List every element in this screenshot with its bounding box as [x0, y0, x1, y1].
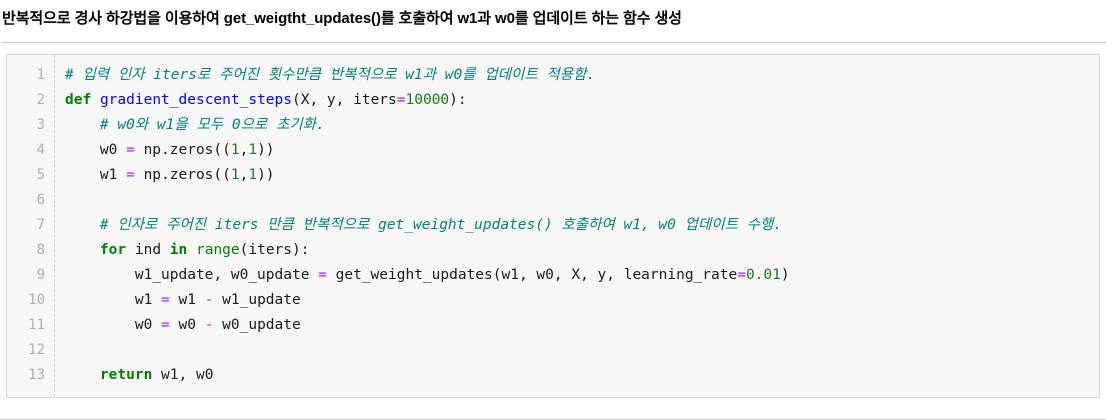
- code-token: [187, 242, 196, 258]
- line-number: 6: [7, 188, 54, 213]
- line-number-gutter: 12345678910111213: [7, 55, 55, 397]
- code-token: =: [126, 167, 135, 183]
- line-number: 9: [7, 263, 54, 288]
- code-token: (X, y, iters: [292, 92, 397, 108]
- code-token: ): [781, 267, 790, 283]
- code-token: 10000: [406, 92, 450, 108]
- code-token: 1: [231, 142, 240, 158]
- code-token: ):: [449, 92, 466, 108]
- code-token: [65, 117, 100, 133]
- code-token: 0.01: [746, 267, 781, 283]
- code-token: range: [196, 242, 240, 258]
- code-token: )): [257, 142, 274, 158]
- code-token: in: [170, 242, 187, 258]
- code-token: =: [126, 142, 135, 158]
- code-token: # 인자로 주어진 iters 만큼 반복적으로 get_weight_upda…: [100, 217, 782, 233]
- code-token: (iters):: [240, 242, 310, 258]
- code-token: )): [257, 167, 274, 183]
- code-token: [65, 217, 100, 233]
- code-token: 1: [248, 142, 257, 158]
- code-line: for ind in range(iters):: [65, 238, 1099, 263]
- code-line: w1_update, w0_update = get_weight_update…: [65, 263, 1099, 288]
- code-token: [65, 242, 100, 258]
- code-line: w1 = w1 - w1_update: [65, 288, 1099, 313]
- line-number: 3: [7, 113, 54, 138]
- code-token: # w0와 w1을 모두 0으로 초기화.: [100, 117, 325, 133]
- line-number: 13: [7, 363, 54, 388]
- code-token: def: [65, 92, 91, 108]
- line-number: 8: [7, 238, 54, 263]
- code-cell[interactable]: 12345678910111213 # 입력 인자 iters로 주어진 횟수만…: [6, 54, 1100, 398]
- heading-divider: [2, 42, 1106, 43]
- line-number: 11: [7, 313, 54, 338]
- code-token: ind: [126, 242, 170, 258]
- code-token: =: [397, 92, 406, 108]
- line-number: 5: [7, 163, 54, 188]
- code-token: =: [737, 267, 746, 283]
- code-token: =: [161, 292, 170, 308]
- code-line-empty: [65, 188, 1099, 213]
- code-line: def gradient_descent_steps(X, y, iters=1…: [65, 88, 1099, 113]
- code-line: return w1, w0: [65, 363, 1099, 388]
- code-token: w1: [65, 167, 126, 183]
- code-line: w1 = np.zeros((1,1)): [65, 163, 1099, 188]
- code-token: np.zeros((: [135, 167, 231, 183]
- code-token: w1_update: [213, 292, 300, 308]
- code-token: w0: [170, 317, 205, 333]
- line-number: 10: [7, 288, 54, 313]
- code-token: w1_update, w0_update: [65, 267, 318, 283]
- code-token: gradient_descent_steps: [100, 92, 292, 108]
- code-line: w0 = w0 - w0_update: [65, 313, 1099, 338]
- code-line: # w0와 w1을 모두 0으로 초기화.: [65, 113, 1099, 138]
- code-token: [91, 92, 100, 108]
- code-token: =: [161, 317, 170, 333]
- line-number: 1: [7, 63, 54, 88]
- code-token: =: [318, 267, 327, 283]
- code-token: # 입력 인자 iters로 주어진 횟수만큼 반복적으로 w1과 w0를 업데…: [65, 67, 595, 83]
- code-line: w0 = np.zeros((1,1)): [65, 138, 1099, 163]
- code-token: np.zeros((: [135, 142, 231, 158]
- line-number: 4: [7, 138, 54, 163]
- code-line: # 인자로 주어진 iters 만큼 반복적으로 get_weight_upda…: [65, 213, 1099, 238]
- code-token: w1: [65, 292, 161, 308]
- code-line-empty: [65, 338, 1099, 363]
- heading-section: 반복적으로 경사 하강법을 이용하여 get_weigtht_updates()…: [0, 0, 1106, 43]
- code-source-area[interactable]: # 입력 인자 iters로 주어진 횟수만큼 반복적으로 w1과 w0를 업데…: [55, 55, 1099, 397]
- code-token: w0: [65, 142, 126, 158]
- code-line: # 입력 인자 iters로 주어진 횟수만큼 반복적으로 w1과 w0를 업데…: [65, 63, 1099, 88]
- code-token: w1: [170, 292, 205, 308]
- code-token: [65, 367, 100, 383]
- code-token: 1: [248, 167, 257, 183]
- line-number: 2: [7, 88, 54, 113]
- code-token: 1: [231, 167, 240, 183]
- code-token: return: [100, 367, 152, 383]
- code-token: for: [100, 242, 126, 258]
- code-token: w0: [65, 317, 161, 333]
- code-token: get_weight_updates(w1, w0, X, y, learnin…: [327, 267, 737, 283]
- line-number: 12: [7, 338, 54, 363]
- page-title: 반복적으로 경사 하강법을 이용하여 get_weigtht_updates()…: [2, 9, 1104, 29]
- line-number: 7: [7, 213, 54, 238]
- code-token: w0_update: [213, 317, 300, 333]
- code-token: w1, w0: [152, 367, 213, 383]
- page-root: 반복적으로 경사 하강법을 이용하여 get_weigtht_updates()…: [0, 0, 1106, 420]
